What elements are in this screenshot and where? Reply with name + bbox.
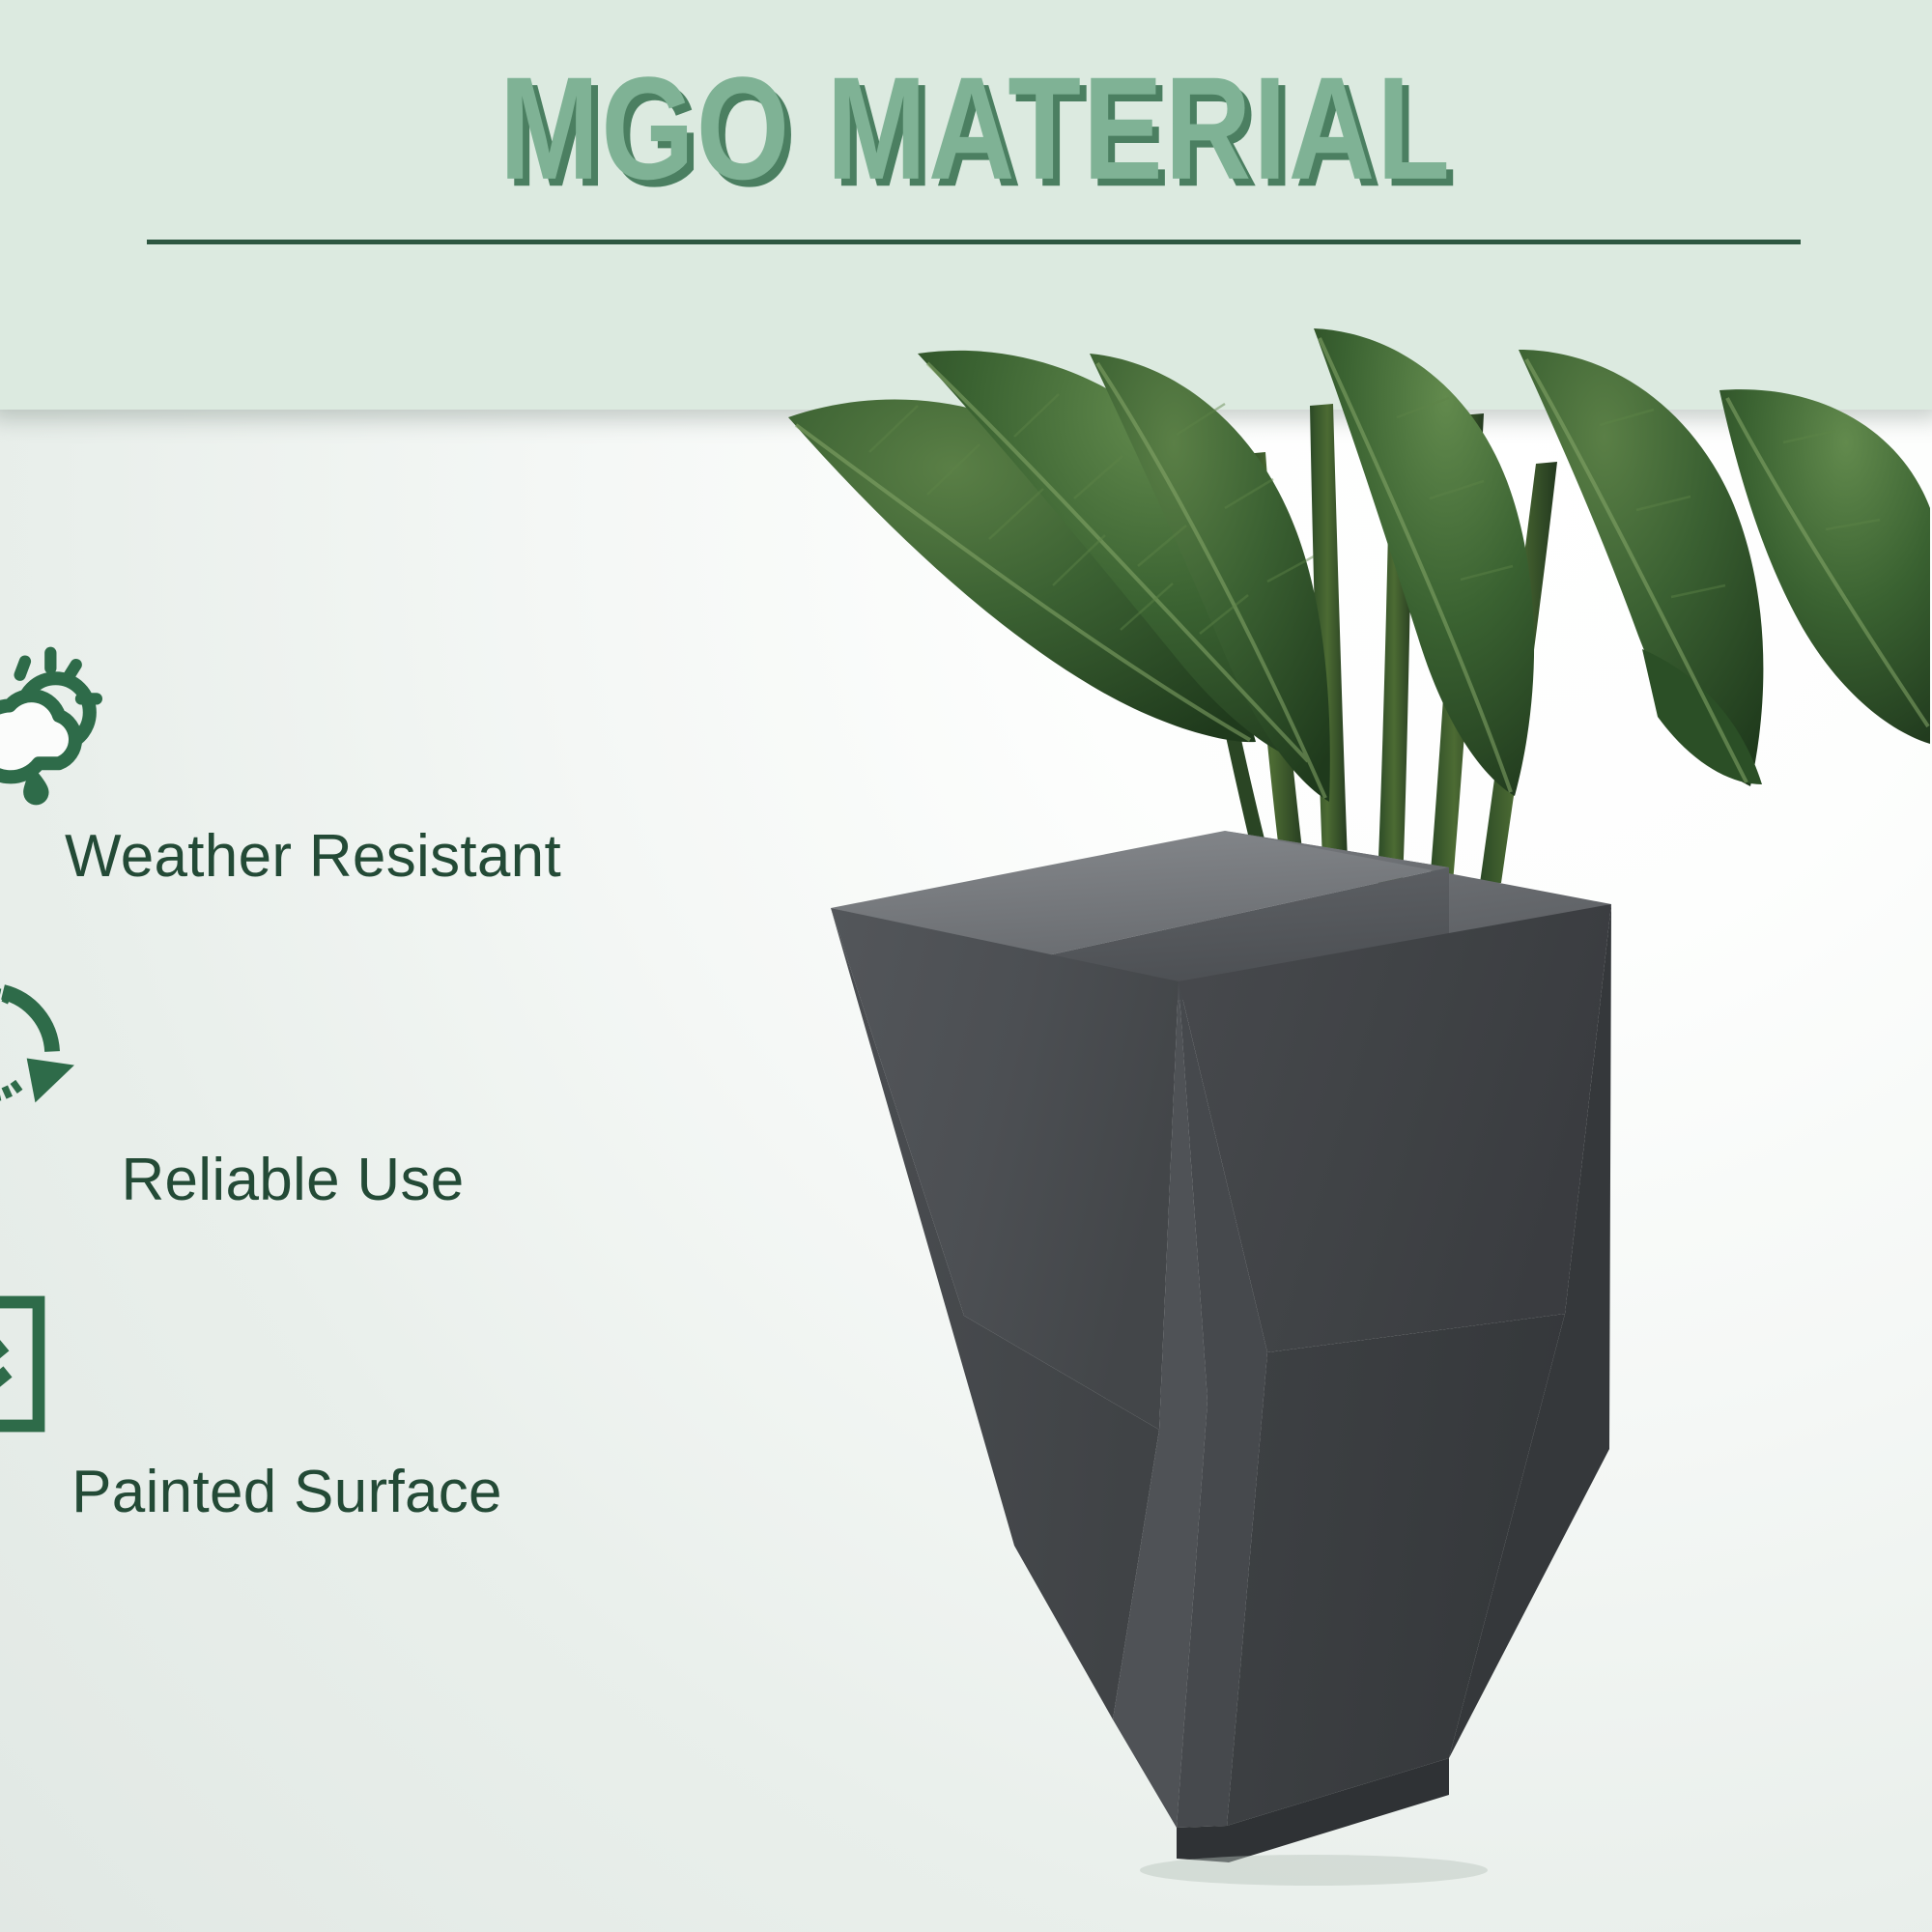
planter-pot [831,831,1611,1886]
painted-surface-brush-strokes-icon [0,1287,54,1441]
feature-label: Painted Surface [0,1461,676,1523]
infographic-canvas: MGO MATERIAL [0,0,1932,1932]
feature-list: Weather Resistant [0,638,676,1599]
plant-leaves [788,328,1930,802]
feature-item-weather-resistant: Weather Resistant [0,638,676,888]
weather-cloud-sun-rain-icon [0,638,124,808]
product-image [773,290,1932,1932]
feature-item-painted-surface: Painted Surface [0,1287,676,1523]
feature-label: Weather Resistant [0,825,676,888]
page-title: MGO MATERIAL [0,56,1932,202]
plant-foliage [788,328,1930,883]
feature-label: Reliable Use [0,1149,676,1211]
clock-arrow-durability-icon [0,963,81,1133]
planter-ground-shadow [1140,1855,1488,1886]
header-divider [147,240,1801,244]
feature-item-reliable-use: Reliable Use [0,963,676,1211]
